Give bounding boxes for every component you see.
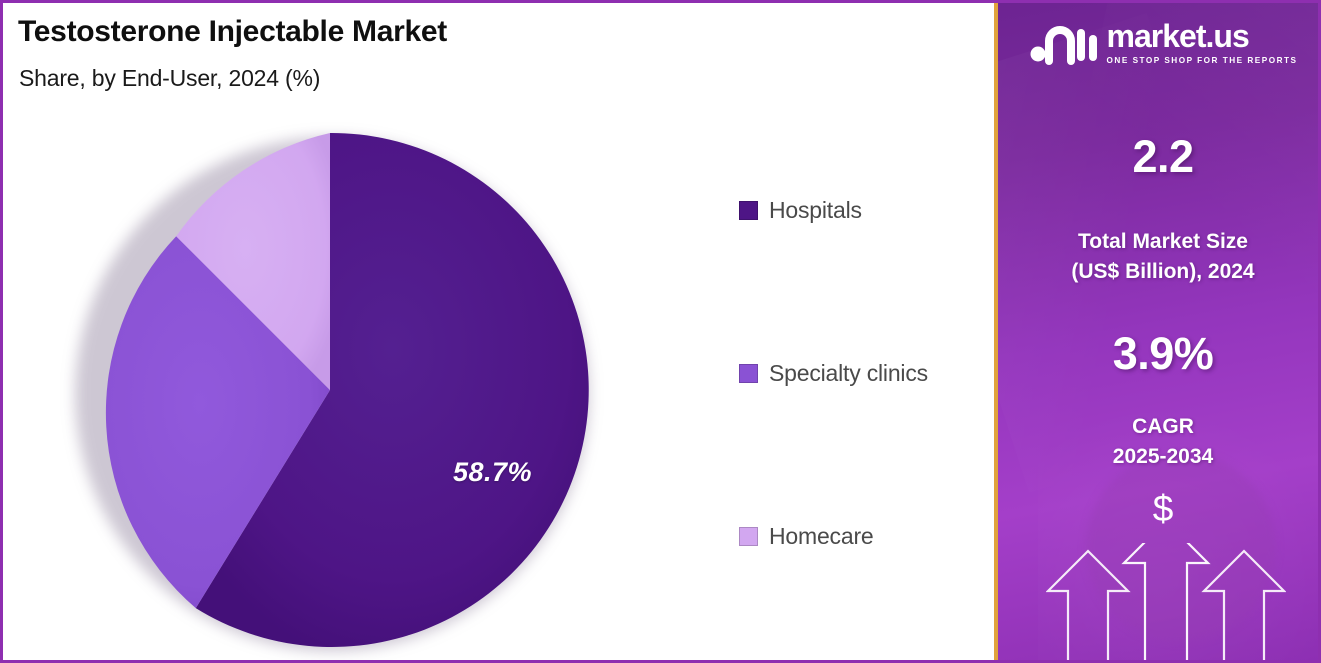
brand-logo[interactable]: market.us ONE STOP SHOP FOR THE REPORTS [998,19,1321,65]
cagr-caption-line1: CAGR [998,412,1321,442]
legend-swatch-homecare [739,527,758,546]
brand-stats-panel: market.us ONE STOP SHOP FOR THE REPORTS … [994,3,1321,663]
up-arrow-icon [1124,543,1208,663]
dollar-sign-icon: $ [998,490,1321,527]
market-size-caption-line1: Total Market Size [998,227,1321,257]
cagr-value: 3.9% [998,328,1321,380]
chart-legend: Hospitals Specialty clinics Homecare [739,193,989,553]
logo-wordmark: market.us [1107,20,1298,52]
legend-swatch-hospitals [739,201,758,220]
legend-item-specialty-clinics[interactable]: Specialty clinics [739,356,989,390]
legend-item-hospitals[interactable]: Hospitals [739,193,989,227]
legend-item-homecare[interactable]: Homecare [739,519,989,553]
growth-arrows-graphic [1046,543,1286,663]
market-size-caption-line2: (US$ Billion), 2024 [998,257,1321,287]
pie-slice-label-hospitals: 58.7% [453,457,532,488]
infographic-root: Testosterone Injectable Market Share, by… [0,0,1321,663]
market-us-logo-icon [1029,19,1097,65]
logo-tagline: ONE STOP SHOP FOR THE REPORTS [1107,56,1298,65]
chart-panel: Testosterone Injectable Market Share, by… [3,3,991,660]
pie-chart-svg [71,131,589,649]
pie-slices [106,133,589,647]
market-size-value: 2.2 [998,131,1321,183]
legend-label-specialty-clinics: Specialty clinics [769,360,928,387]
legend-label-hospitals: Hospitals [769,197,862,224]
up-arrow-icon [1048,551,1128,663]
legend-label-homecare: Homecare [769,523,874,550]
legend-swatch-specialty-clinics [739,364,758,383]
up-arrow-icon [1204,551,1284,663]
cagr-caption-line2: 2025-2034 [998,442,1321,472]
page-subtitle: Share, by End-User, 2024 (%) [19,65,320,92]
page-title: Testosterone Injectable Market [18,15,447,49]
logo-text-block: market.us ONE STOP SHOP FOR THE REPORTS [1107,20,1298,65]
pie-chart: 58.7% [71,131,589,649]
market-size-caption: Total Market Size (US$ Billion), 2024 [998,227,1321,287]
cagr-caption: CAGR 2025-2034 [998,412,1321,472]
